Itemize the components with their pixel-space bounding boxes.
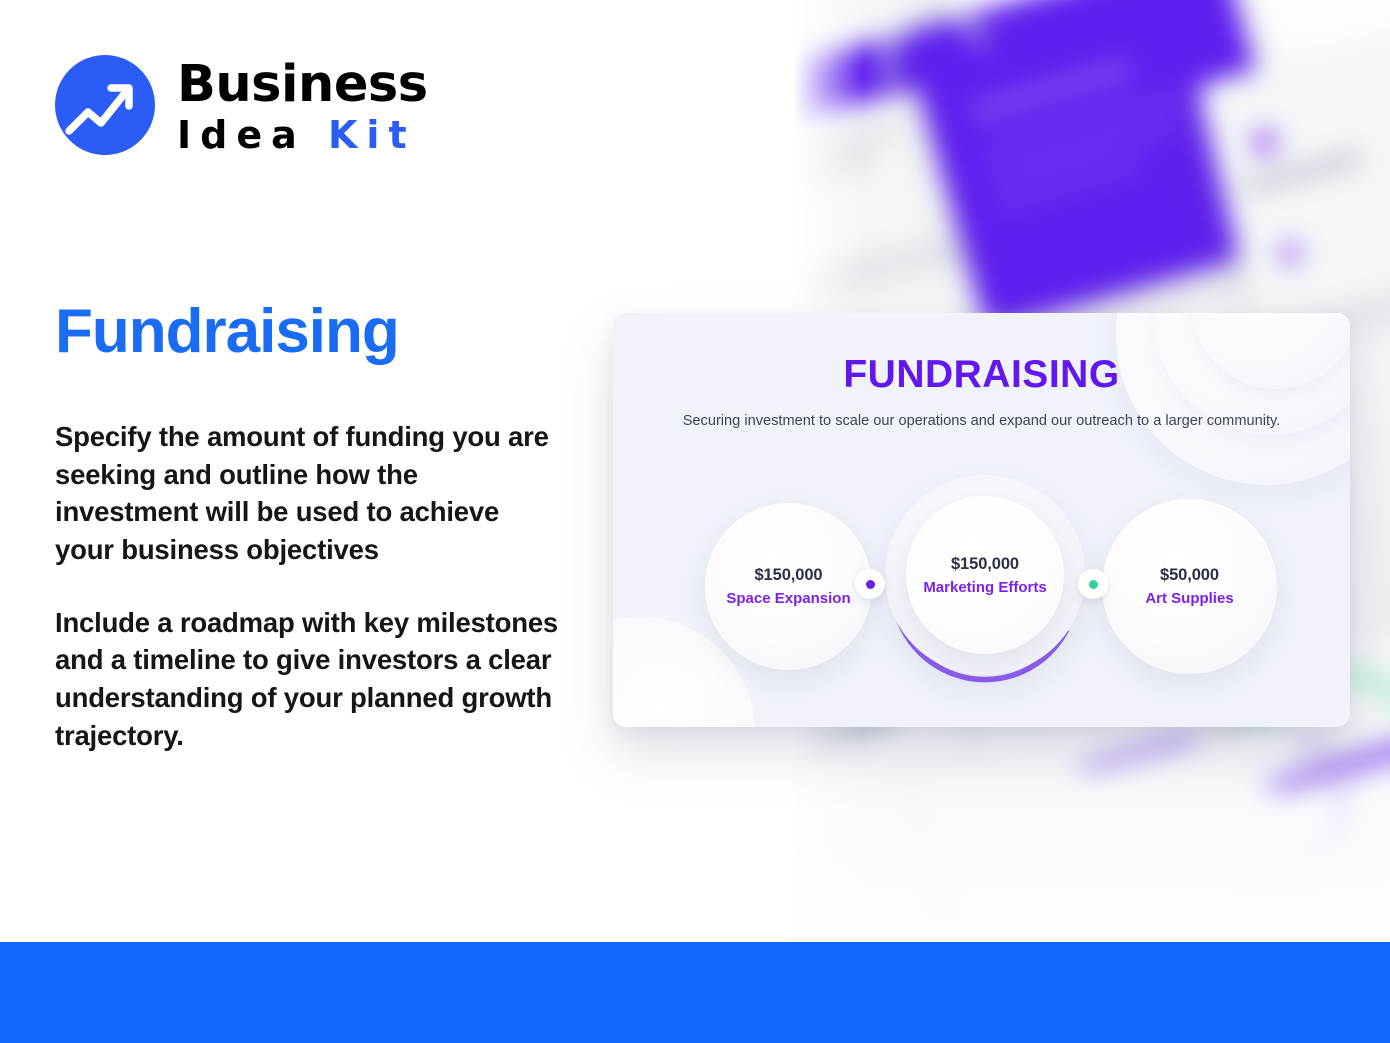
brand-wordmark: Business Idea Kit: [177, 57, 428, 154]
connector-node-left: [855, 569, 885, 599]
funding-label: Art Supplies: [1145, 590, 1233, 607]
body-copy: Specify the amount of funding you are se…: [55, 418, 565, 754]
brand-logo[interactable]: Business Idea Kit: [55, 55, 428, 155]
node-dot-green: [1089, 580, 1098, 589]
funding-item-center[interactable]: $150,000 Marketing Efforts: [869, 459, 1101, 711]
growth-arrow-icon: [55, 55, 155, 155]
funding-allocation-diagram: $150,000 Space Expansion $150,000 Market…: [613, 313, 1350, 727]
brand-line-1: Business: [177, 59, 428, 110]
footer-bar: [0, 942, 1390, 1043]
brand-line-2: Idea Kit: [177, 116, 428, 154]
page-title: Fundraising: [55, 296, 399, 367]
funding-amount: $50,000: [1160, 566, 1219, 585]
funding-label: Marketing Efforts: [923, 579, 1046, 596]
funding-amount: $150,000: [754, 566, 822, 585]
center-circle-inner: $150,000 Marketing Efforts: [906, 496, 1064, 654]
paragraph-1: Specify the amount of funding you are se…: [55, 418, 565, 569]
funding-item-left[interactable]: $150,000 Space Expansion: [705, 503, 872, 670]
connector-node-right: [1078, 569, 1108, 599]
slide-page: Business Idea Kit Fundraising Specify th…: [0, 0, 1390, 1043]
funding-label: Space Expansion: [726, 590, 850, 607]
paragraph-2: Include a roadmap with key milestones an…: [55, 604, 565, 755]
node-dot-purple: [866, 580, 875, 589]
funding-amount: $150,000: [951, 555, 1019, 574]
funding-item-right[interactable]: $50,000 Art Supplies: [1102, 499, 1277, 674]
fundraising-slide-card[interactable]: FUNDRAISING Securing investment to scale…: [613, 313, 1350, 727]
brand-kit-text: Kit: [328, 113, 416, 157]
brand-idea-text: Idea: [177, 113, 328, 157]
